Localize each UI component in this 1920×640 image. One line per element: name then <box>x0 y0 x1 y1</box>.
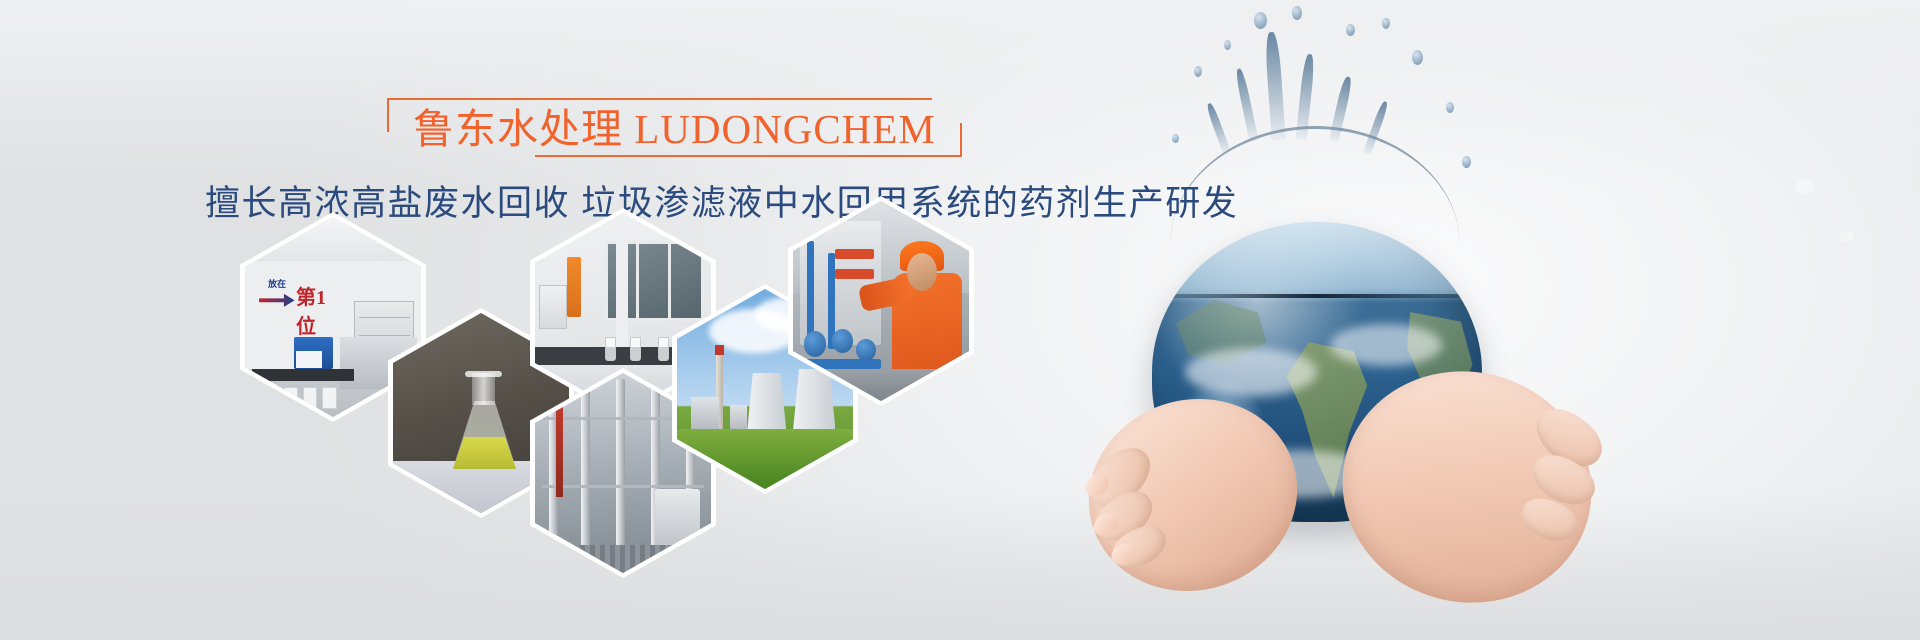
hexagon-photo-worker <box>793 201 969 401</box>
page-title: 鲁东水处理 LUDONGCHEM <box>413 104 936 155</box>
water-globe-artwork <box>1060 0 1600 640</box>
wall-slogan-line2: 第1位 <box>296 281 333 339</box>
wall-slogan: 放在 第1位 <box>259 277 333 321</box>
title-top-rule <box>401 98 932 100</box>
headline-block: 鲁东水处理 LUDONGCHEM 擅长高浓高盐废水回收 垃圾渗滤液中水回用系统的… <box>205 95 1025 227</box>
brand-title-frame: 鲁东水处理 LUDONGCHEM <box>387 95 962 161</box>
bokeh-bubble <box>1795 180 1815 194</box>
arrow-icon <box>259 294 294 307</box>
hexagon-gallery: 放在 第1位 <box>240 212 1000 532</box>
hero-banner: 鲁东水处理 LUDONGCHEM 擅长高浓高盐废水回收 垃圾渗滤液中水回用系统的… <box>0 0 1920 640</box>
wall-slogan-line1: 放在 <box>268 277 286 290</box>
title-bottom-rule <box>535 155 948 157</box>
bracket-right-icon <box>930 123 962 157</box>
bokeh-bubble <box>1840 232 1854 242</box>
bracket-left-icon <box>387 98 419 132</box>
